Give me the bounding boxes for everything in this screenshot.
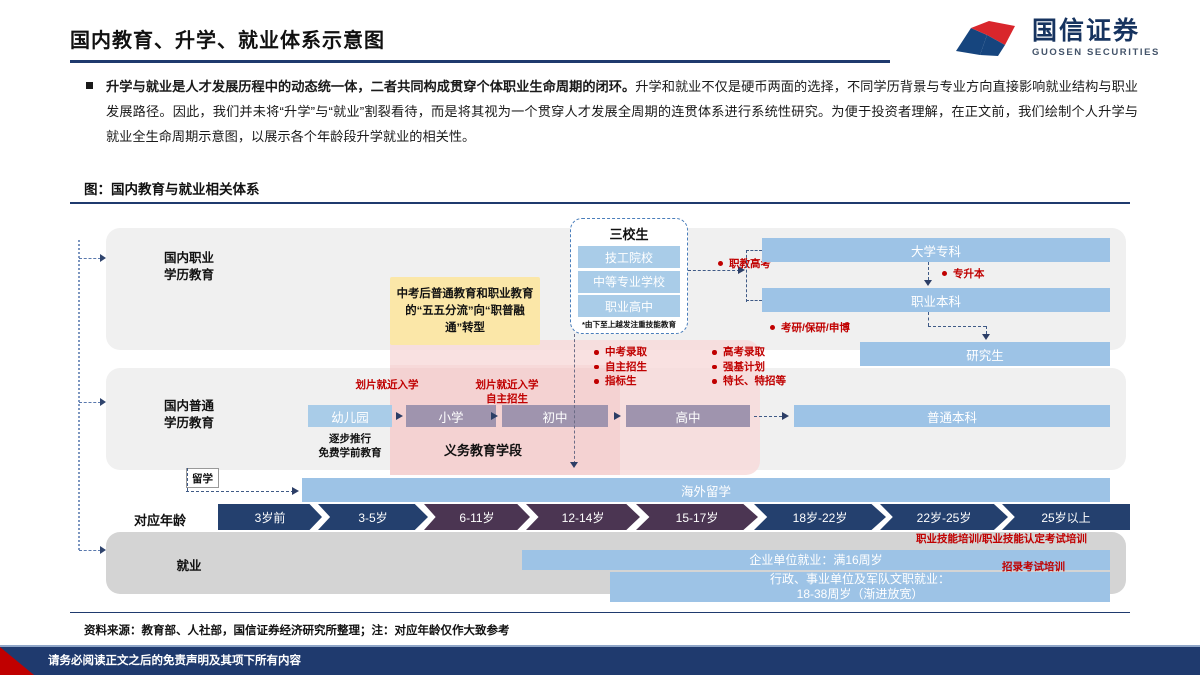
box-postgraduate[interactable]: 研究生: [860, 342, 1110, 366]
timeline-seg-3[interactable]: 12-14岁: [526, 504, 640, 530]
spine-arm-general: [79, 402, 101, 403]
dash-vocational-rail: [746, 250, 747, 302]
timeline-seg-6[interactable]: 22岁-25岁: [880, 504, 1008, 530]
timeline-seg-5-label: 18岁-22岁: [793, 509, 848, 526]
dash-rail-to-undergrad: [746, 300, 762, 301]
label-zoning-middle: 划片就近入学 自主招生: [452, 378, 562, 406]
sanxiaosheng-row-1[interactable]: 中等专业学校: [578, 271, 680, 293]
timeline-seg-7[interactable]: 25岁以上: [1002, 504, 1130, 530]
dash-sanxiaosheng-down: [574, 334, 575, 464]
gaokao-item-2: 特长、特招等: [712, 374, 786, 389]
zhongkao-item-2: 指标生: [594, 374, 647, 389]
timeline-seg-2-label: 6-11岁: [459, 509, 494, 526]
box-college-diploma[interactable]: 大学专科: [762, 238, 1110, 262]
timeline-seg-5[interactable]: 18岁-22岁: [754, 504, 886, 530]
source-divider: [70, 612, 1130, 613]
sanxiaosheng-note: *由下至上越发注重技能教育: [578, 320, 680, 330]
bar-public-sector-employment[interactable]: 行政、事业单位及军队文职就业： 18-38周岁（渐进放宽）: [610, 572, 1110, 602]
bar-overseas-study[interactable]: 海外留学: [302, 478, 1110, 502]
box-senior-high[interactable]: 高中: [626, 405, 750, 427]
label-kaoyan-baoyan: 考研/保研/申博: [770, 320, 850, 335]
brand-name-en: GUOSEN SECURITIES: [1032, 48, 1160, 58]
source-note: 资料来源：教育部、人社部，国信证券经济研究所整理；注：对应年龄仅作大致参考: [84, 622, 510, 638]
sanxiaosheng-row-2[interactable]: 职业高中: [578, 295, 680, 317]
gaokao-item-1: 强基计划: [712, 360, 786, 375]
label-zhuanshengben: 专升本: [942, 266, 985, 281]
list-gaokao-admission: 高考录取 强基计划 特长、特招等: [712, 345, 786, 389]
sanxiaosheng-group: 三校生 技工院校 中等专业学校 职业高中 *由下至上越发注重技能教育: [570, 218, 688, 334]
slide-root: 国内教育、升学、就业体系示意图 国信证券 GUOSEN SECURITIES 升…: [0, 0, 1200, 675]
timeline-seg-3-label: 12-14岁: [562, 509, 605, 526]
tag-study-abroad: 留学: [186, 468, 219, 488]
paragraph-lead: 升学与就业是人才发展历程中的动态统一体，二者共同构成贯穿个体职业生命周期的闭环。: [106, 79, 635, 94]
guosen-logo-icon: [953, 18, 1023, 58]
box-vocational-undergrad[interactable]: 职业本科: [762, 288, 1110, 312]
note-compulsory-stage: 义务教育学段: [444, 440, 522, 459]
sanxiaosheng-row-0[interactable]: 技工院校: [578, 246, 680, 268]
education-employment-diagram: 国内职业 学历教育 国内普通 学历教育 就业 中考后普通教育和职业教育的“五五分…: [70, 210, 1132, 610]
timeline-seg-0[interactable]: 3岁前: [218, 504, 322, 530]
spine-connector: [78, 240, 80, 550]
arrow-into-abroad-bar-icon: [292, 487, 299, 495]
intro-paragraph: 升学与就业是人才发展历程中的动态统一体，二者共同构成贯穿个体职业生命周期的闭环。…: [86, 74, 1138, 149]
timeline-seg-4[interactable]: 15-17岁: [636, 504, 758, 530]
spine-arm-employment: [79, 550, 101, 551]
dash-rail-to-college: [746, 250, 762, 251]
arrow-senior-to-undergrad-icon: [782, 412, 789, 420]
spine-arm-vocational: [79, 258, 101, 259]
timeline-seg-6-label: 22岁-25岁: [917, 509, 972, 526]
gaokao-item-0: 高考录取: [712, 345, 786, 360]
dash-college-to-undergrad: [928, 262, 929, 280]
timeline-seg-1-label: 3-5岁: [358, 509, 387, 526]
timeline-seg-0-label: 3岁前: [255, 509, 286, 526]
arrow-junior-to-senior-icon: [614, 412, 621, 420]
figure-caption: 图：国内教育与就业相关体系: [84, 178, 260, 198]
box-kindergarten[interactable]: 幼儿园: [308, 405, 392, 427]
list-zhongkao-admission: 中考录取 自主招生 指标生: [594, 345, 647, 389]
footer-disclaimer: 请务必阅读正文之后的免责声明及其项下所有内容: [48, 652, 301, 668]
panel-general-label: 国内普通 学历教育: [134, 398, 244, 432]
arrow-sanxiaosheng-down-icon: [570, 462, 578, 468]
arrow-primary-to-junior-icon: [491, 412, 498, 420]
dash-undergrad-to-postgrad-h: [928, 326, 986, 327]
bullet-square-icon: [86, 82, 93, 89]
zhongkao-item-0: 中考录取: [594, 345, 647, 360]
footer-accent-triangle-icon: [0, 647, 34, 675]
timeline-label: 对应年龄: [134, 510, 186, 529]
brand-text: 国信证券 GUOSEN SECURITIES: [1032, 19, 1160, 58]
box-general-undergrad[interactable]: 普通本科: [794, 405, 1110, 427]
header-divider: [70, 60, 890, 63]
box-primary-school[interactable]: 小学: [406, 405, 496, 427]
timeline-seg-7-label: 25岁以上: [1041, 509, 1090, 526]
dash-senior-to-undergrad: [754, 416, 782, 417]
timeline-seg-1[interactable]: 3-5岁: [318, 504, 428, 530]
page-title: 国内教育、升学、就业体系示意图: [70, 24, 385, 53]
paragraph-text: 升学与就业是人才发展历程中的动态统一体，二者共同构成贯穿个体职业生命周期的闭环。…: [106, 74, 1138, 149]
dash-postgrad-drop: [986, 326, 987, 334]
brand-logo: 国信证券 GUOSEN SECURITIES: [953, 18, 1160, 58]
label-vocational-training: 职业技能培训/职业技能认定考试培训: [916, 532, 1087, 546]
zhongkao-item-1: 自主招生: [594, 360, 647, 375]
figure-divider: [70, 202, 1130, 204]
label-recruitment-exam-training: 招录考试培训: [1002, 560, 1065, 574]
brand-name-cn: 国信证券: [1032, 19, 1160, 44]
dash-abroad-tag-drop: [187, 468, 188, 491]
policy-highlight-box: 中考后普通教育和职业教育的“五五分流”向“职普融通”转型: [390, 277, 540, 345]
arrow-into-postgrad-icon: [982, 334, 990, 340]
dash-to-abroad-bar: [186, 491, 294, 492]
timeline-seg-4-label: 15-17岁: [676, 509, 719, 526]
panel-employment-label: 就业: [134, 558, 244, 575]
note-free-preschool: 逐步推行 免费学前教育: [298, 432, 402, 460]
timeline-seg-2[interactable]: 6-11岁: [424, 504, 530, 530]
sanxiaosheng-title: 三校生: [578, 224, 680, 243]
box-junior-high[interactable]: 初中: [502, 405, 608, 427]
arrow-kg-to-primary-icon: [396, 412, 403, 420]
arrow-college-to-undergrad-icon: [924, 280, 932, 286]
dash-undergrad-to-postgrad-v: [928, 312, 929, 326]
label-zoning-left: 划片就近入学: [332, 378, 442, 392]
panel-vocational-label: 国内职业 学历教育: [134, 250, 244, 284]
